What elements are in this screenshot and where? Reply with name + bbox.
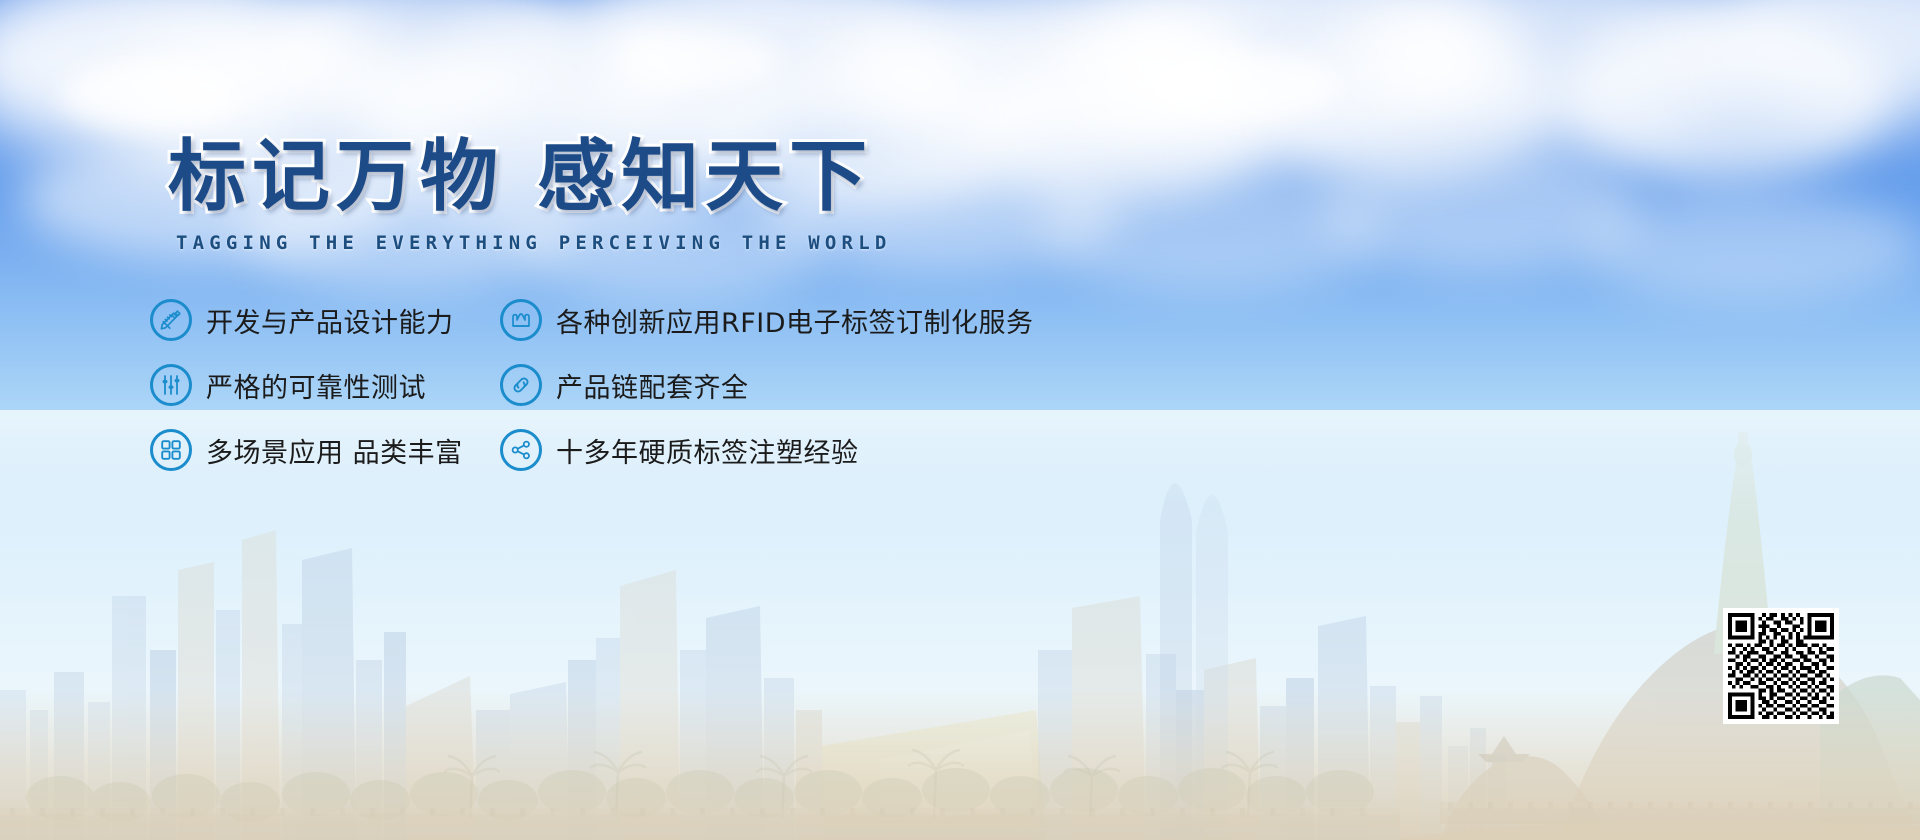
feature-label: 各种创新应用RFID电子标签订制化服务 [556, 301, 1034, 340]
promo-banner: 标记万物 感知天下 TAGGING THE EVERYTHING PERCEIV… [0, 0, 1920, 840]
headline: 标记万物 感知天下 [168, 138, 873, 216]
grid-four-squares-icon [150, 429, 192, 471]
feature-item-product-chain[interactable]: 产品链配套齐全 [500, 353, 1100, 417]
feature-column-right: 各种创新应用RFID电子标签订制化服务 产品链配套齐全 [500, 288, 1100, 482]
subheadline: TAGGING THE EVERYTHING PERCEIVING THE WO… [176, 232, 891, 254]
banner-copy: 标记万物 感知天下 TAGGING THE EVERYTHING PERCEIV… [0, 0, 1920, 840]
qr-code-image [1728, 613, 1834, 719]
sliders-icon [150, 364, 192, 406]
qr-code[interactable] [1723, 608, 1839, 724]
pencil-ruler-icon [150, 299, 192, 341]
feature-item-reliability-test[interactable]: 严格的可靠性测试 [150, 353, 480, 417]
feature-item-molding-experience[interactable]: 十多年硬质标签注塑经验 [500, 418, 1100, 482]
share-network-icon [500, 429, 542, 471]
feature-label: 严格的可靠性测试 [206, 366, 426, 405]
feature-label: 多场景应用 品类丰富 [206, 431, 463, 470]
feature-item-design[interactable]: 开发与产品设计能力 [150, 288, 480, 352]
chain-link-icon [500, 364, 542, 406]
feature-column-left: 开发与产品设计能力 严格的可靠性测试 [150, 288, 480, 482]
crown-icon [500, 299, 542, 341]
feature-label: 产品链配套齐全 [556, 366, 749, 405]
feature-item-multi-scenario[interactable]: 多场景应用 品类丰富 [150, 418, 480, 482]
feature-label: 开发与产品设计能力 [206, 301, 454, 340]
feature-label: 十多年硬质标签注塑经验 [556, 431, 859, 470]
feature-item-custom-rfid[interactable]: 各种创新应用RFID电子标签订制化服务 [500, 288, 1100, 352]
